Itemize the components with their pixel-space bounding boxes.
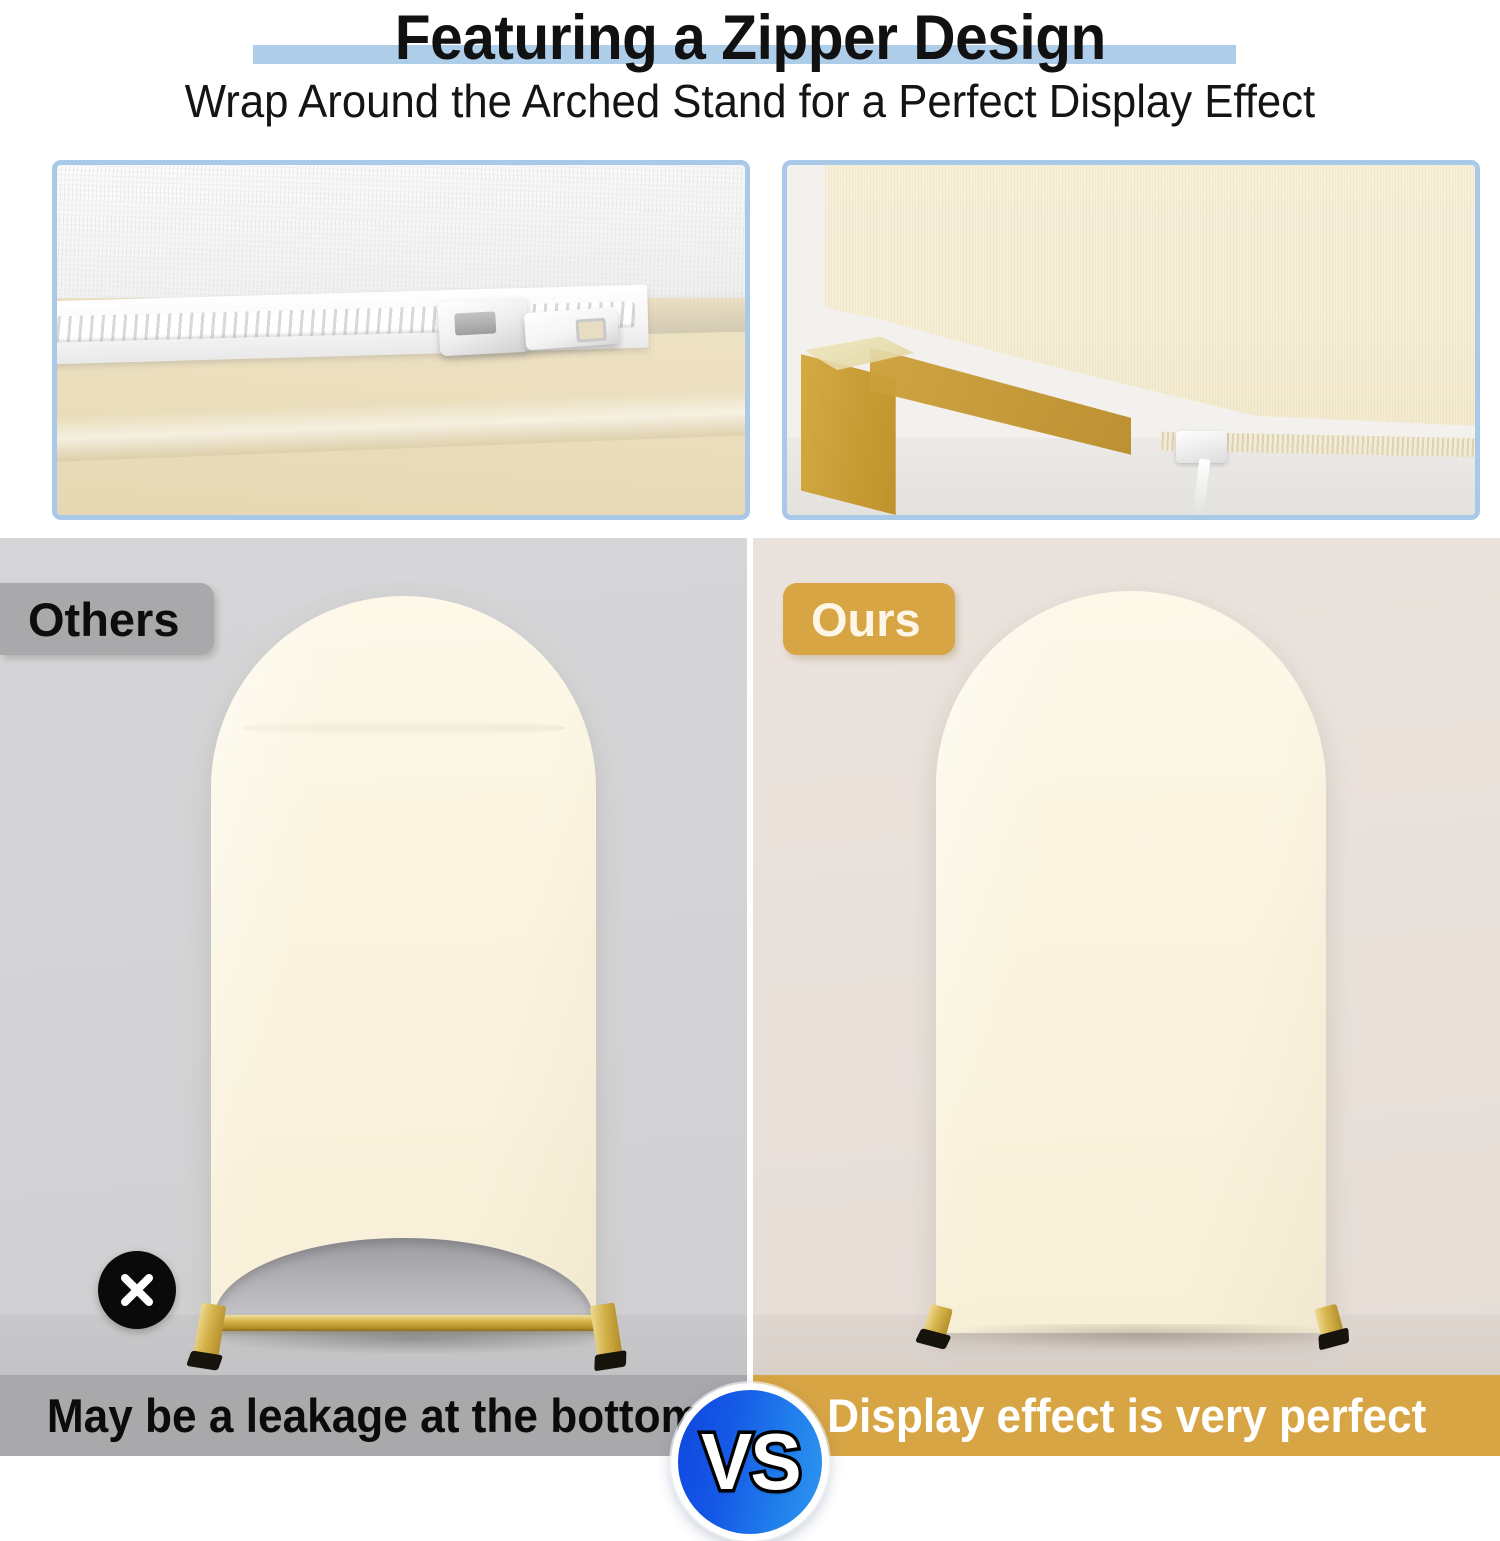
badge-others: Others [0, 583, 214, 655]
gold-bottom-bar [203, 1315, 601, 1331]
arch-backdrop-ours [936, 591, 1326, 1333]
zipper-pull-tab-icon [524, 307, 619, 350]
page-title: Featuring a Zipper Design [394, 7, 1105, 70]
x-mark-icon [98, 1251, 176, 1329]
comparison-panel-ours: Ours [753, 538, 1500, 1375]
panel-divider [747, 538, 753, 1375]
versus-badge: VS [671, 1383, 829, 1541]
stand-shadow [939, 1324, 1343, 1350]
arch-sheen [211, 596, 596, 1324]
badge-ours: Ours [783, 583, 955, 655]
fabric-fold-line [242, 720, 565, 736]
badge-ours-label: Ours [811, 596, 921, 643]
caption-ours: Display effect is very perfect [753, 1375, 1500, 1456]
cover-wrap-photo [782, 160, 1480, 520]
zipper-slider-icon [1176, 431, 1228, 463]
gold-foot-left [922, 1304, 953, 1343]
gold-foot-left [193, 1302, 227, 1363]
comparison-section: Others Ours VS [0, 538, 1500, 1375]
zipper-closeup-photo [52, 160, 750, 520]
photo-row [0, 160, 1500, 530]
title-container: Featuring a Zipper Design [0, 2, 1500, 74]
versus-label: VS [701, 1422, 800, 1502]
header: Featuring a Zipper Design Wrap Around th… [0, 0, 1500, 150]
stand-shadow [215, 1328, 615, 1354]
page-subtitle: Wrap Around the Arched Stand for a Perfe… [38, 76, 1463, 127]
x-mark-glyph [115, 1268, 159, 1312]
caption-others-text: May be a leakage at the bottom [47, 1392, 700, 1439]
comparison-panel-others: Others [0, 538, 747, 1375]
arch-sheen [936, 591, 1326, 1333]
badge-others-label: Others [28, 596, 180, 643]
gold-foot-right [1314, 1304, 1345, 1343]
caption-ours-text: Display effect is very perfect [827, 1392, 1426, 1439]
zipper-slider-icon [437, 297, 529, 356]
caption-others: May be a leakage at the bottom [0, 1375, 747, 1456]
arch-backdrop-others [211, 596, 596, 1324]
